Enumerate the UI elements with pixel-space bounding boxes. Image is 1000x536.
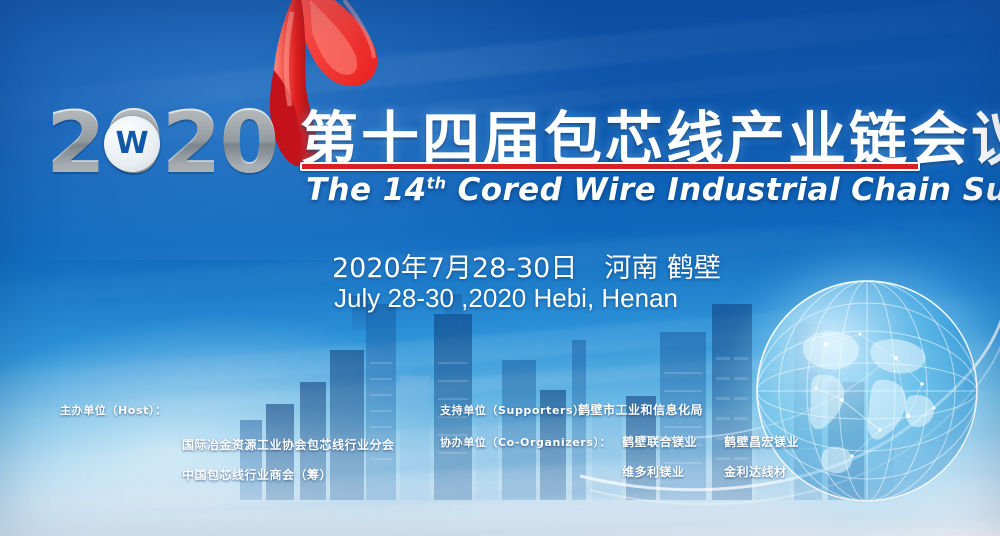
host-label: 主办单位（Host）：: [60, 402, 167, 418]
sponsor-block: 主办单位（Host）： 中国铁合金网 Ferro-Alloys.com Chin…: [0, 392, 1000, 502]
title-divider-rule: [300, 162, 920, 171]
host-org-1: 国际冶金资源工业协会包芯线行业分会: [182, 436, 395, 453]
year-logo-text: 2020: [46, 93, 277, 193]
host-org-2: 中国包芯线行业商会（筹）: [182, 466, 332, 483]
co-organizers-label: 协办单位（Co-Organizers）：: [440, 434, 611, 450]
w-badge-letter: W: [115, 129, 148, 159]
co-organizer-2: 鹤壁昌宏镁业: [724, 433, 799, 450]
title-english-ordinal: th: [427, 174, 447, 193]
supporters-label: 支持单位（Supporters）：: [440, 402, 591, 418]
year-logo-2020: 2020 W: [46, 104, 277, 182]
w-badge-icon: W: [104, 116, 160, 172]
title-english-rest: Cored Wire Industrial Chain Summit: [458, 172, 1000, 208]
title-english-prefix: The 14: [306, 172, 427, 208]
date-english: July 28-30 ,2020 Hebi, Henan: [334, 283, 678, 314]
date-chinese: 2020年7月28-30日 河南 鹤壁: [332, 246, 721, 285]
supporter-1: 鹤壁市工业和信息化局: [578, 401, 703, 418]
co-organizer-3: 维多利镁业: [622, 463, 685, 480]
title-english: The 14th Cored Wire Industrial Chain Sum…: [306, 172, 1000, 208]
co-organizer-4: 金利达线材: [724, 463, 787, 480]
conference-banner: 2020 W 第十四届包芯线产业链会议 The 14th Cored Wire …: [0, 0, 1000, 536]
co-organizer-1: 鹤壁联合镁业: [622, 433, 697, 450]
